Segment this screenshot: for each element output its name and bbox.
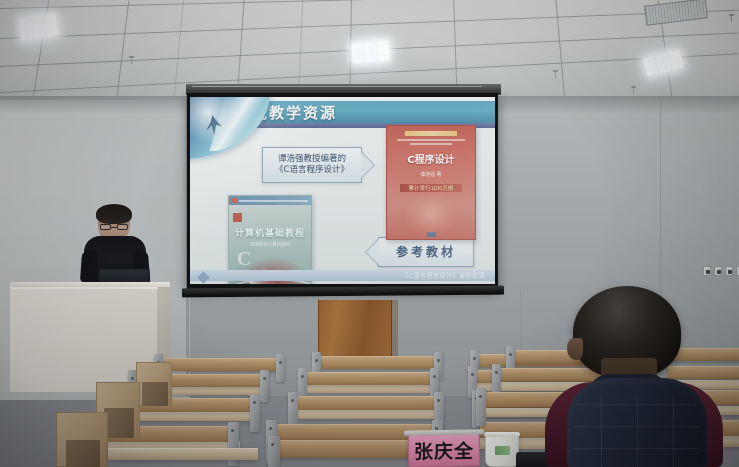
book-teal-tag xyxy=(233,213,242,222)
presenter-hair xyxy=(96,204,132,224)
glasses-icon xyxy=(100,224,128,230)
book-red-title: C程序设计 xyxy=(392,151,470,166)
callout-textbook-line2: 《C语言程序设计》 xyxy=(275,165,349,176)
screen-bottom-weight-bar[interactable] xyxy=(182,286,504,298)
ceiling-light-fixture-center xyxy=(351,40,390,63)
callout-textbook-line1: 谭浩强教授编著的 xyxy=(278,154,346,165)
callout-reference-material: 参考教材 xyxy=(378,237,474,267)
sprinkler-head-2 xyxy=(552,70,559,79)
presentation-slide: 说教学资源 谭浩强教授编著的 《C语言程序设计》 参考教材 xyxy=(190,97,495,284)
callout-textbook-author: 谭浩强教授编著的 《C语言程序设计》 xyxy=(262,147,362,183)
sprinkler-head-4 xyxy=(728,14,735,23)
book-teal-top-band xyxy=(229,196,311,205)
ceiling-light-fixture-left xyxy=(19,14,58,40)
desk-end-panel-mid-inner xyxy=(104,408,134,438)
book-red-footer xyxy=(387,231,475,237)
attendee-quilted-vest xyxy=(567,378,707,467)
attendee-ear xyxy=(567,338,583,360)
book-cover-c-programming: C程序设计 谭浩强 著 累计发行1100万册 xyxy=(386,125,476,240)
paper-cup[interactable] xyxy=(485,432,519,467)
power-outlet-1[interactable] xyxy=(703,266,711,276)
paper-cup-logo xyxy=(495,446,510,455)
book-red-line-2 xyxy=(410,143,452,145)
slide-footer-bar: 《C语言程序设计》课程说课 xyxy=(190,270,495,281)
power-outlet-3[interactable] xyxy=(725,266,733,276)
projection-screen: 说教学资源 谭浩强教授编著的 《C语言程序设计》 参考教材 xyxy=(186,84,501,299)
callout-reference-label: 参考教材 xyxy=(396,244,456,260)
desk-end-panel-near-inner xyxy=(66,440,100,467)
book-red-band: 累计发行1100万册 xyxy=(400,184,462,192)
classroom-photo-scene: 说教学资源 谭浩强教授编著的 《C语言程序设计》 参考教材 xyxy=(0,0,739,467)
book-red-author: 谭浩强 著 xyxy=(392,171,470,178)
callout-arrow-left xyxy=(366,239,379,265)
wall-power-outlets[interactable] xyxy=(703,266,739,276)
door-shadow-strip xyxy=(392,300,398,362)
callout-arrow-right xyxy=(361,152,374,178)
power-outlet-2[interactable] xyxy=(714,266,722,276)
sprinkler-head-3 xyxy=(630,86,637,95)
desk-end-panel-far-inner xyxy=(142,382,168,406)
nameplate: 张庆全 xyxy=(408,433,481,467)
screen-surface: 说教学资源 谭浩强教授编著的 《C语言程序设计》 参考教材 xyxy=(190,97,495,284)
paper-cup-rim xyxy=(484,432,520,437)
nameplate-text: 张庆全 xyxy=(414,436,474,464)
screen-frame: 说教学资源 谭浩强教授编著的 《C语言程序设计》 参考教材 xyxy=(187,93,498,289)
screen-housing-highlight xyxy=(192,86,482,88)
book-red-top-band xyxy=(405,131,456,136)
foreground-attendee xyxy=(545,286,730,467)
book-teal-title: 计算机基础教程 xyxy=(229,226,311,239)
slide-footer-text: 《C语言程序设计》课程说课 xyxy=(402,271,485,280)
podium-edge-highlight xyxy=(10,287,158,289)
book-red-line-1 xyxy=(397,139,464,141)
sprinkler-head-1 xyxy=(128,56,135,65)
wooden-door[interactable] xyxy=(318,300,392,362)
slide-corner-decoration xyxy=(190,97,270,159)
